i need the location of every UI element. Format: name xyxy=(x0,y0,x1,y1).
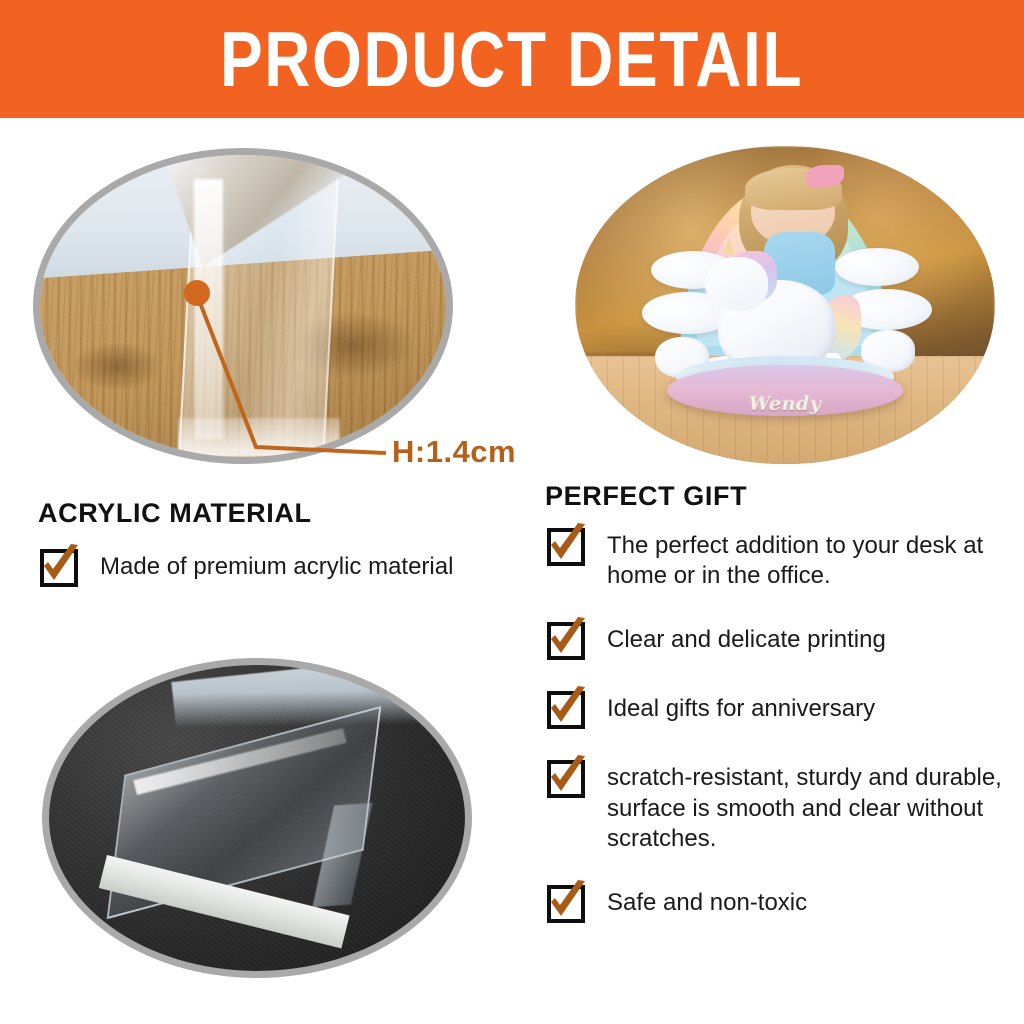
dimension-label: H:1.4cm xyxy=(392,434,516,470)
checkmark-glyph xyxy=(545,616,589,660)
engraved-name: Wendy xyxy=(575,393,995,415)
photo-content xyxy=(49,665,465,971)
section-heading-acrylic: ACRYLIC MATERIAL xyxy=(38,498,312,529)
checkbox-checked-icon xyxy=(545,879,589,923)
checkbox-checked-icon xyxy=(545,522,589,566)
list-item-label: Clear and delicate printing xyxy=(607,618,886,655)
checkmark-glyph xyxy=(545,754,589,798)
list-item-label: Safe and non-toxic xyxy=(607,881,807,918)
list-item: Clear and delicate printing xyxy=(545,618,1010,660)
page-title: PRODUCT DETAIL xyxy=(220,20,803,98)
header-banner: PRODUCT DETAIL xyxy=(0,0,1024,118)
list-item: scratch-resistant, sturdy and durable, s… xyxy=(545,756,1010,854)
list-item: Safe and non-toxic xyxy=(545,881,1010,923)
acrylic-slab-photo xyxy=(42,658,472,978)
list-item: The perfect addition to your desk at hom… xyxy=(545,524,1010,591)
checkmark-glyph xyxy=(545,522,589,566)
list-item: Made of premium acrylic material xyxy=(38,545,508,587)
photo-content xyxy=(40,155,446,457)
list-item: Ideal gifts for anniversary xyxy=(545,687,1010,729)
checkmark-glyph xyxy=(545,685,589,729)
checkmark-glyph xyxy=(38,543,82,587)
list-item-label: The perfect addition to your desk at hom… xyxy=(607,524,1010,591)
cloud-icon xyxy=(835,248,919,286)
checkbox-checked-icon xyxy=(545,616,589,660)
list-item-label: Ideal gifts for anniversary xyxy=(607,687,875,724)
wood-grain-knot xyxy=(72,342,161,390)
acrylic-block-base-glow xyxy=(178,418,340,457)
feature-list-gift: The perfect addition to your desk at hom… xyxy=(545,524,1010,950)
checkbox-checked-icon xyxy=(545,754,589,798)
personalized-unicorn-standee-photo: Wendy xyxy=(575,146,995,464)
checkbox-checked-icon xyxy=(545,685,589,729)
unicorn-head xyxy=(705,257,768,311)
product-detail-infographic: PRODUCT DETAIL xyxy=(0,0,1024,1024)
list-item-label: Made of premium acrylic material xyxy=(100,545,453,582)
section-heading-gift: PERFECT GIFT xyxy=(545,481,747,512)
photo-content: Wendy xyxy=(575,146,995,464)
unicorn-horn-icon xyxy=(724,238,734,254)
checkbox-checked-icon xyxy=(38,543,82,587)
acrylic-block-highlight xyxy=(194,179,222,439)
acrylic-block-edge-photo xyxy=(33,148,453,464)
checkmark-glyph xyxy=(545,879,589,923)
feature-list-acrylic: Made of premium acrylic material xyxy=(38,545,508,609)
list-item-label: scratch-resistant, sturdy and durable, s… xyxy=(607,756,1010,854)
